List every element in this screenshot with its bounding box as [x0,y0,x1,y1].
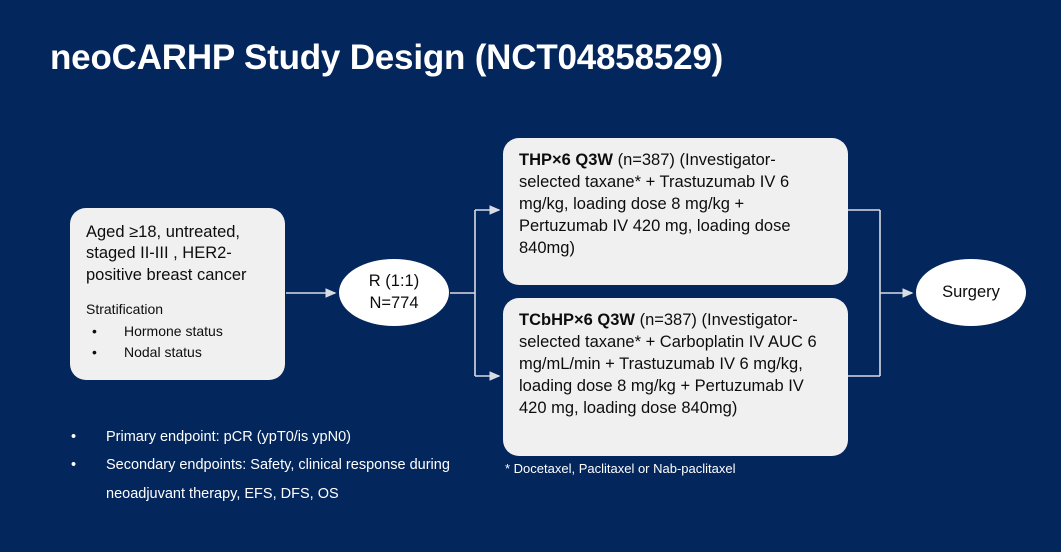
arm-tcbhp-name: TCbHP×6 Q3W [519,311,635,329]
stratification-list: • Hormone status • Nodal status [86,321,269,362]
page-title: neoCARHP Study Design (NCT04858529) [50,38,723,78]
list-item: • Primary endpoint: pCR (ypT0/is ypN0) [68,423,498,451]
primary-endpoint-text: Primary endpoint: pCR (ypT0/is ypN0) [106,429,351,445]
randomization-total: N=774 [369,293,419,314]
stratification-item-label: Hormone status [124,323,223,339]
endpoints-list: • Primary endpoint: pCR (ypT0/is ypN0) •… [68,423,498,508]
taxane-footnote: * Docetaxel, Paclitaxel or Nab-paclitaxe… [505,461,736,476]
arm-thp-n: (n=387) [618,151,675,169]
bullet-icon: • [71,451,76,479]
stratification-item-label: Nodal status [124,344,202,360]
eligibility-criteria-text: Aged ≥18, untreated, staged II-III , HER… [86,222,269,286]
secondary-endpoint-text: Secondary endpoints: Safety, clinical re… [106,457,450,501]
surgery-node: Surgery [916,259,1026,326]
randomization-node: R (1:1) N=774 [339,259,449,326]
randomization-ratio: R (1:1) [369,271,419,292]
list-item: • Hormone status [86,321,269,341]
arm-thp-name: THP×6 Q3W [519,151,613,169]
list-item: • Secondary endpoints: Safety, clinical … [68,451,498,508]
treatment-arm-thp-box: THP×6 Q3W (n=387) (Investigator-selected… [503,138,848,285]
eligibility-criteria-box: Aged ≥18, untreated, staged II-III , HER… [70,208,285,380]
bullet-icon: • [92,321,97,341]
bullet-icon: • [92,342,97,362]
treatment-arm-tcbhp-box: TCbHP×6 Q3W (n=387) (Investigator-select… [503,298,848,456]
surgery-label: Surgery [942,282,1000,303]
arm-tcbhp-n: (n=387) [640,311,697,329]
bullet-icon: • [71,423,76,451]
arm-thp-text: THP×6 Q3W (n=387) (Investigator-selected… [519,150,832,260]
stratification-heading: Stratification [86,300,269,319]
list-item: • Nodal status [86,342,269,362]
slide-canvas: neoCARHP Study Design (NCT04858529) Aged… [0,0,1061,552]
arm-tcbhp-text: TCbHP×6 Q3W (n=387) (Investigator-select… [519,310,832,420]
